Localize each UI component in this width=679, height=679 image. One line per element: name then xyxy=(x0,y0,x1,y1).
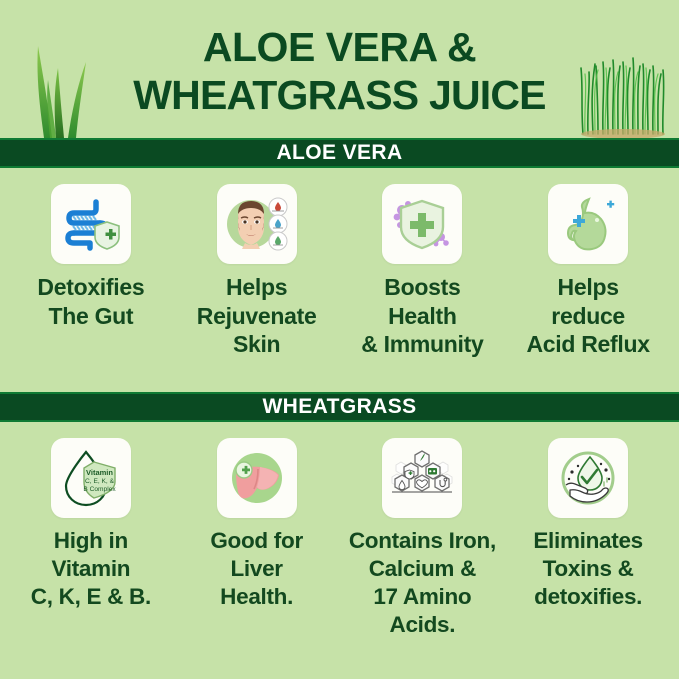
benefit-caption: High in Vitamin C, K, E & B. xyxy=(31,527,151,611)
face-skin-care-icon xyxy=(225,195,289,253)
section-title-wheatgrass: WHEATGRASS xyxy=(262,395,416,419)
section-header-wheatgrass: WHEATGRASS xyxy=(0,392,679,422)
benefit-caption: Detoxifies The Gut xyxy=(37,273,144,330)
benefit-item-eliminates-toxins: Eliminates Toxins & detoxifies. xyxy=(505,438,671,639)
shield-plus-immunity-icon xyxy=(391,195,453,253)
poster-header: ALOE VERA & WHEATGRASS JUICE xyxy=(0,0,679,138)
svg-text:Vitamin: Vitamin xyxy=(86,468,113,477)
svg-text:B Complex: B Complex xyxy=(83,486,116,493)
icon-tile xyxy=(548,438,628,518)
icon-tile xyxy=(217,438,297,518)
benefit-item-liver-health: Good for Liver Health. xyxy=(174,438,340,639)
icon-tile xyxy=(548,184,628,264)
hand-water-detox-icon xyxy=(557,449,619,507)
wheatgrass-illustration xyxy=(575,48,675,138)
liver-health-icon xyxy=(226,449,288,507)
benefit-item-high-in-vitamin: Vitamin C, E, K, & B Complex High in Vit… xyxy=(8,438,174,639)
benefit-item-iron-calcium-amino: Contains Iron, Calcium & 17 Amino Acids. xyxy=(340,438,506,639)
benefit-caption: Helps reduce Acid Reflux xyxy=(527,273,650,359)
icon-tile xyxy=(217,184,297,264)
icon-tile xyxy=(51,184,131,264)
section-header-aloe-vera: ALOE VERA xyxy=(0,138,679,168)
benefit-item-detoxifies-gut: Detoxifies The Gut xyxy=(8,184,174,392)
benefit-caption: Boosts Health & Immunity xyxy=(361,273,483,359)
benefit-caption: Eliminates Toxins & detoxifies. xyxy=(533,527,643,611)
title-line-1: ALOE VERA & xyxy=(203,24,476,70)
benefit-item-boosts-immunity: Boosts Health & Immunity xyxy=(340,184,506,392)
stomach-acid-icon xyxy=(557,195,619,253)
section-title-aloe-vera: ALOE VERA xyxy=(276,141,402,165)
honeycomb-nutrients-icon xyxy=(390,449,454,507)
benefits-grid-wheatgrass: Vitamin C, E, K, & B Complex High in Vit… xyxy=(0,422,679,639)
icon-tile: Vitamin C, E, K, & B Complex xyxy=(51,438,131,518)
benefit-item-acid-reflux: Helps reduce Acid Reflux xyxy=(505,184,671,392)
benefit-item-rejuvenate-skin: Helps Rejuvenate Skin xyxy=(174,184,340,392)
benefits-grid-aloe-vera: Detoxifies The Gut xyxy=(0,168,679,392)
intestine-shield-icon xyxy=(60,196,122,252)
vitamin-droplet-shield-icon: Vitamin C, E, K, & B Complex xyxy=(60,448,122,508)
infographic-poster: ALOE VERA & WHEATGRASS JUICE xyxy=(0,0,679,679)
benefit-caption: Good for Liver Health. xyxy=(210,527,303,611)
icon-tile xyxy=(382,438,462,518)
svg-text:C, E, K, &: C, E, K, & xyxy=(85,478,115,485)
icon-tile xyxy=(382,184,462,264)
benefit-caption: Contains Iron, Calcium & 17 Amino Acids. xyxy=(349,527,496,639)
benefit-caption: Helps Rejuvenate Skin xyxy=(197,273,317,359)
